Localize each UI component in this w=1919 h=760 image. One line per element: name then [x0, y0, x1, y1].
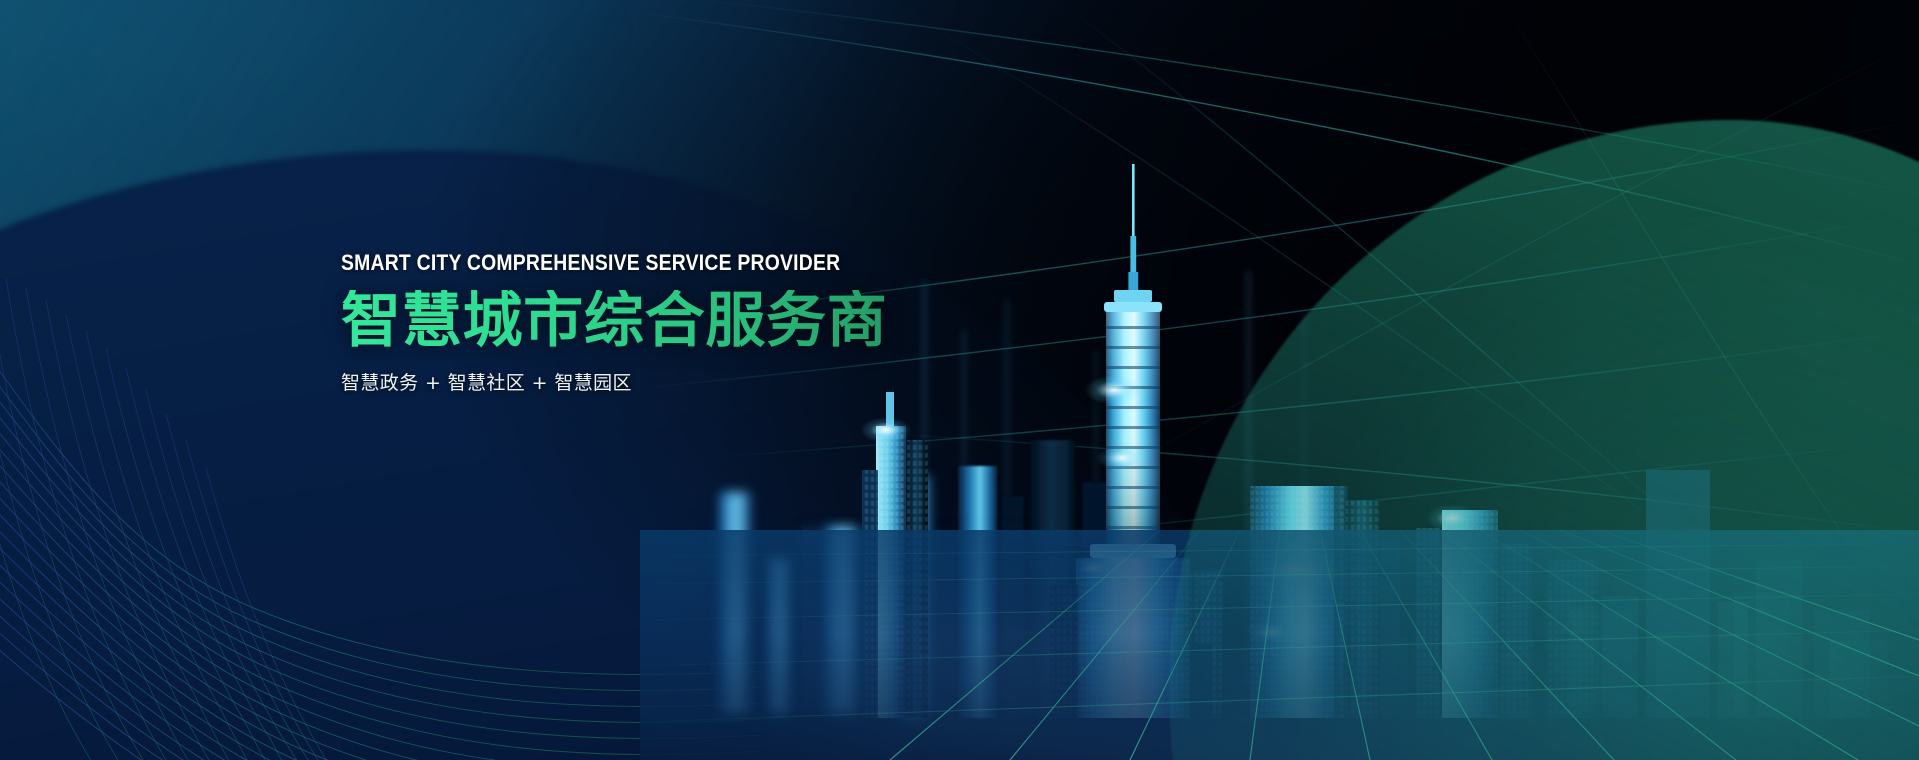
- hero-copy-block: SMART CITY COMPREHENSIVE SERVICE PROVIDE…: [341, 252, 1101, 395]
- smart-city-hero-banner: SMART CITY COMPREHENSIVE SERVICE PROVIDE…: [0, 0, 1919, 760]
- banner-headline: 智慧城市综合服务商: [341, 290, 1101, 354]
- banner-subline: 智慧政务 + 智慧社区 + 智慧园区: [341, 368, 1101, 395]
- banner-eyebrow-text: SMART CITY COMPREHENSIVE SERVICE PROVIDE…: [341, 252, 1010, 274]
